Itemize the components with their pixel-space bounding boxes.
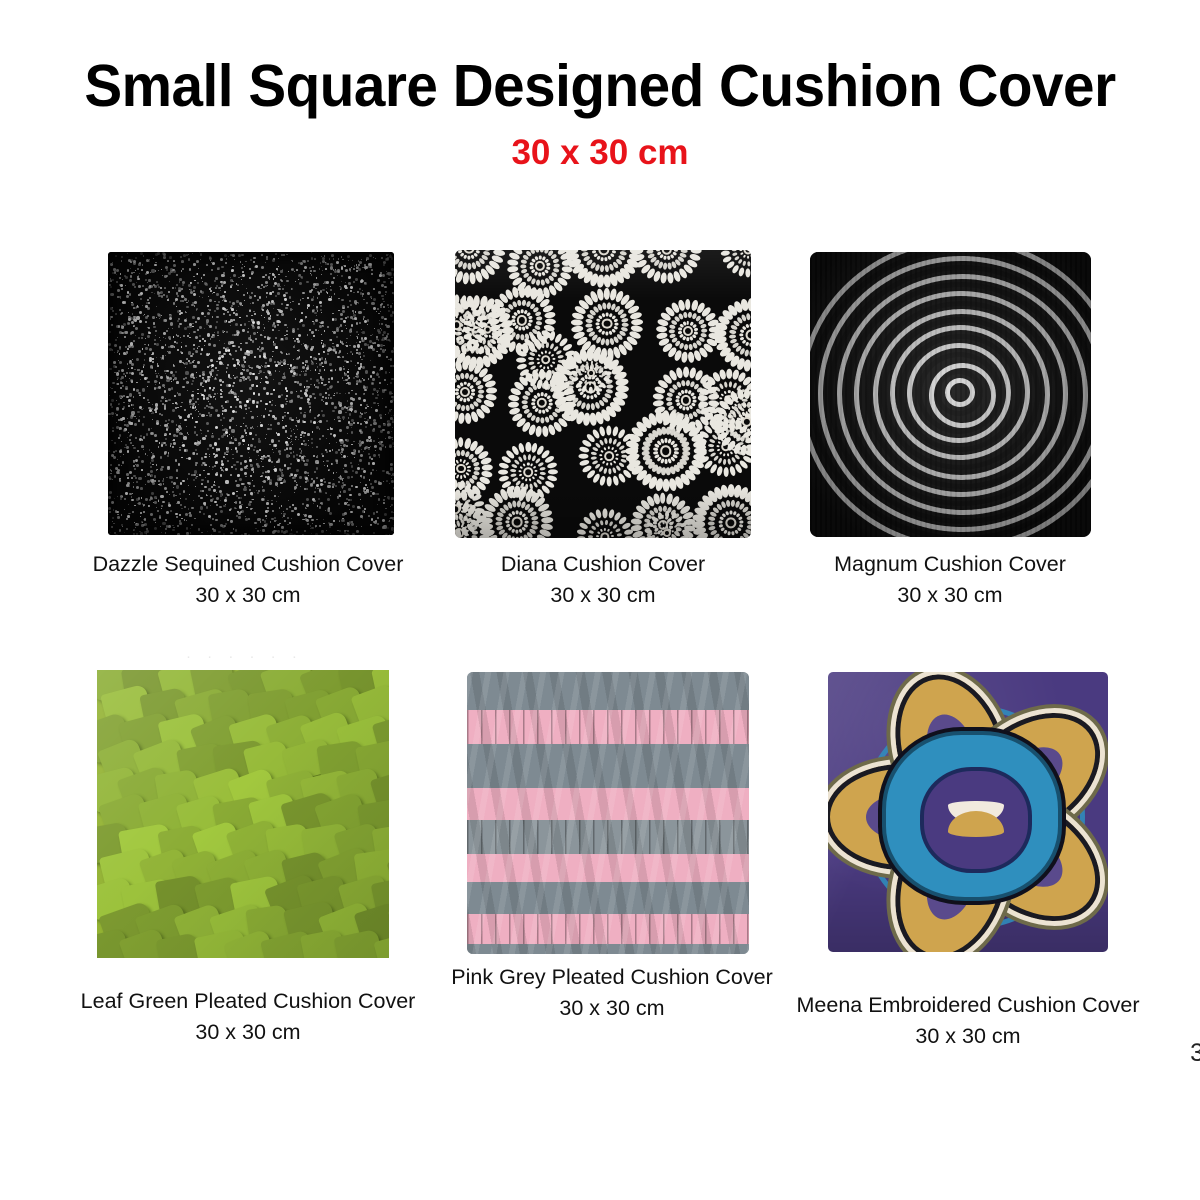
crumple-texture-overlay (467, 672, 749, 954)
product-caption-dazzle-sequined: Dazzle Sequined Cushion Cover 30 x 30 cm (28, 549, 468, 610)
product-catalog-sheet: Small Square Designed Cushion Cover 30 x… (0, 0, 1200, 1200)
product-name: Pink Grey Pleated Cushion Cover (428, 962, 796, 993)
embroidered-flower (828, 672, 1108, 952)
fabric-shading-overlay (455, 250, 751, 538)
fabric-shading-overlay (97, 670, 389, 958)
product-image-dazzle-sequined (108, 252, 394, 535)
product-caption-meena-embroidered: Meena Embroidered Cushion Cover 30 x 30 … (758, 990, 1178, 1051)
product-image-diana (455, 250, 751, 538)
fabric-edge-shadow (108, 252, 394, 535)
product-image-pink-grey-pleated (467, 672, 749, 954)
page-title: Small Square Designed Cushion Cover (24, 52, 1176, 120)
product-name: Magnum Cushion Cover (740, 549, 1160, 580)
product-name: Leaf Green Pleated Cushion Cover (18, 986, 478, 1017)
product-image-leaf-green-pleated (97, 670, 389, 958)
product-image-magnum (810, 252, 1091, 537)
product-size: 30 x 30 cm (18, 1017, 478, 1048)
product-name: Meena Embroidered Cushion Cover (758, 990, 1178, 1021)
product-caption-pink-grey-pleated: Pink Grey Pleated Cushion Cover 30 x 30 … (428, 962, 796, 1023)
product-size: 30 x 30 cm (758, 1021, 1178, 1052)
product-size: 30 x 30 cm (28, 580, 468, 611)
product-name: Dazzle Sequined Cushion Cover (28, 549, 468, 580)
product-image-meena-embroidered (828, 672, 1108, 952)
product-size: 30 x 30 cm (428, 993, 796, 1024)
product-caption-leaf-green-pleated: Leaf Green Pleated Cushion Cover 30 x 30… (18, 986, 478, 1047)
scan-artifact-text: · · · · · · (186, 648, 303, 665)
product-size: 30 x 30 cm (740, 580, 1160, 611)
clipped-page-number: 3 (1190, 1039, 1200, 1068)
product-caption-magnum: Magnum Cushion Cover 30 x 30 cm (740, 549, 1160, 610)
vignette-overlay (810, 252, 1091, 537)
page-subtitle-size: 30 x 30 cm (0, 133, 1200, 173)
